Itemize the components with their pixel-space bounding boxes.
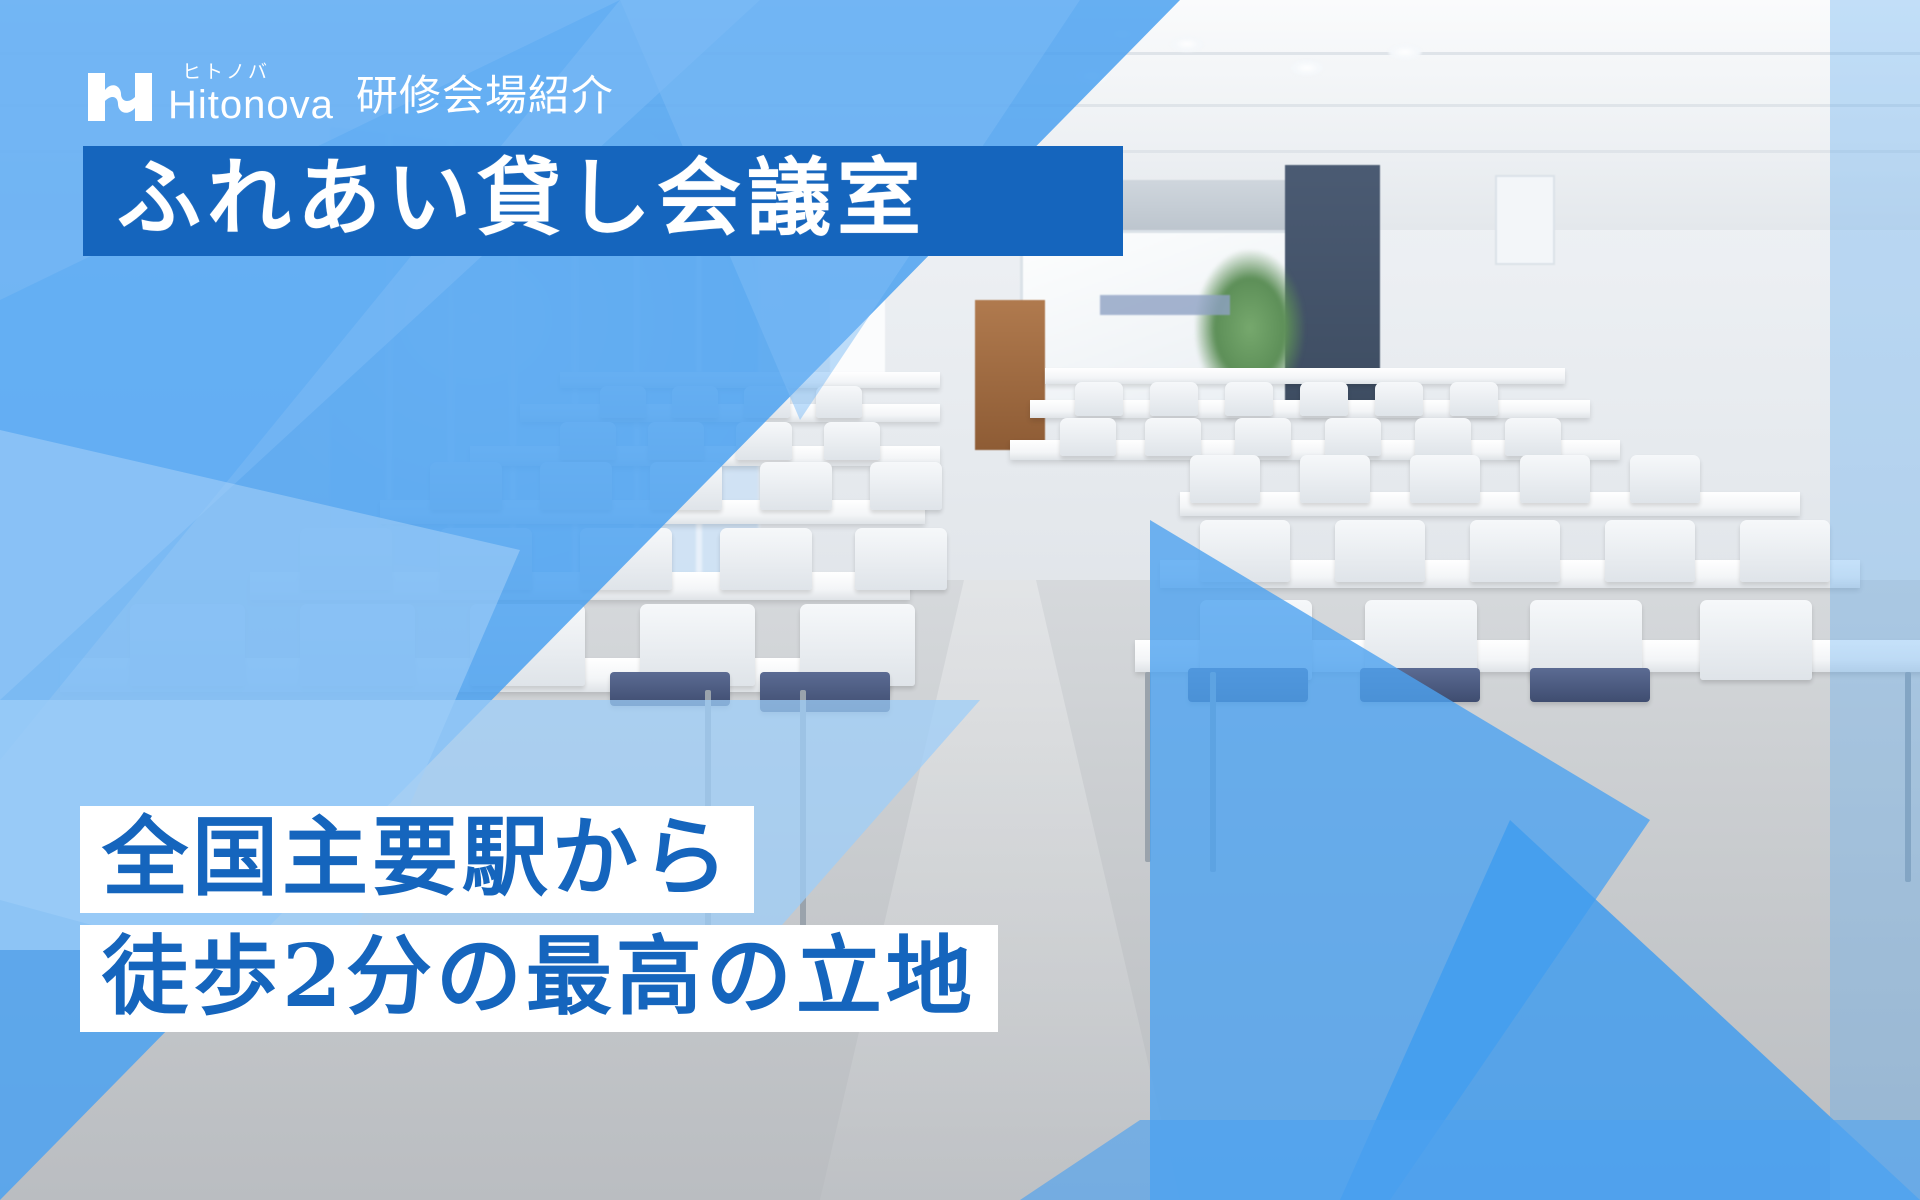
hitonova-h-logo-icon <box>88 69 152 125</box>
slide-canvas: ヒトノバ Hitonova 研修会場紹介 ふれあい貸し会議室 全国主要駅から 徒… <box>0 0 1920 1200</box>
lead-line-2: 徒歩2分の最高の立地 <box>80 925 998 1032</box>
brand-row: ヒトノバ Hitonova 研修会場紹介 <box>88 62 614 125</box>
lead-line-2-text: 徒歩2分の最高の立地 <box>102 926 976 1027</box>
lead-line-1: 全国主要駅から <box>80 806 754 913</box>
lead-copy: 全国主要駅から 徒歩2分の最高の立地 <box>80 806 998 1044</box>
brand-ruby: ヒトノバ <box>182 63 334 82</box>
overlay-tint-rightedge <box>1830 0 1920 1200</box>
lead-line-1-text: 全国主要駅から <box>102 807 732 908</box>
brand-name: Hitonova <box>168 85 334 125</box>
main-title-banner: ふれあい貸し会議室 <box>83 146 1123 256</box>
overlay-strip-bottom <box>1020 1120 1920 1200</box>
page-title: ふれあい貸し会議室 <box>117 154 1089 242</box>
brand-subhead: 研修会場紹介 <box>356 62 614 125</box>
brand-name-block: ヒトノバ Hitonova <box>168 63 334 125</box>
